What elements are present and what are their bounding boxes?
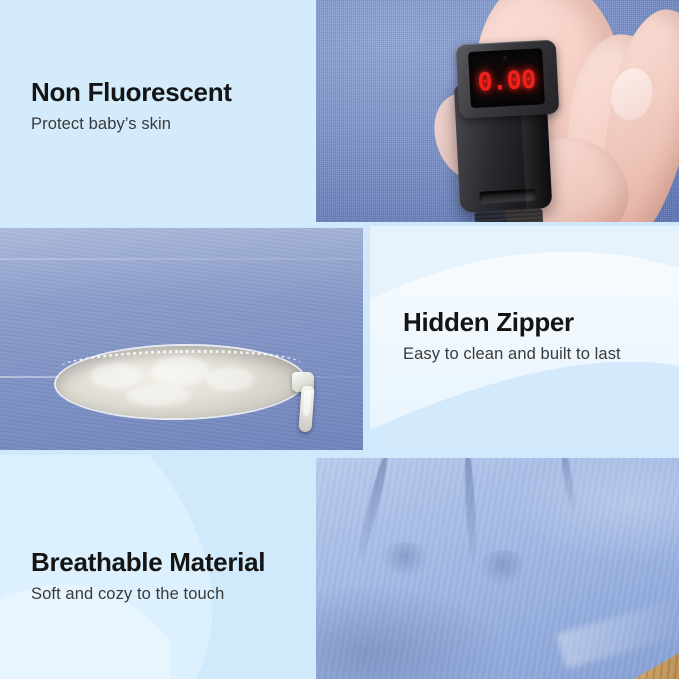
device-sensor-slot (479, 189, 535, 203)
device-brand-logo: ◎ (503, 55, 508, 61)
feature-subline: Easy to clean and built to last (403, 344, 621, 365)
feature-text-non-fluorescent: Non Fluorescent Protect baby’s skin (31, 78, 232, 134)
feature-headline: Hidden Zipper (403, 308, 621, 337)
feature-subline: Protect baby’s skin (31, 114, 232, 135)
device-readout-value: 0.00 (477, 67, 536, 95)
device-head: ◎ 0.00 (456, 40, 560, 119)
feature-text-breathable-material: Breathable Material Soft and cozy to the… (31, 548, 265, 604)
feature-headline: Non Fluorescent (31, 78, 232, 107)
feature-headline: Breathable Material (31, 548, 265, 577)
feature-image-breathable-material (316, 458, 679, 679)
feature-image-non-fluorescent: ◎ 0.00 (316, 0, 679, 222)
infographic-canvas: Non Fluorescent Protect baby’s skin (0, 0, 679, 679)
fill-lump (126, 384, 190, 407)
pillow-top-seam (0, 258, 363, 260)
fluorescence-detector-device: ◎ 0.00 (452, 39, 571, 213)
device-grip-texture (474, 208, 543, 222)
feature-text-hidden-zipper: Hidden Zipper Easy to clean and built to… (403, 308, 621, 364)
device-display: ◎ 0.00 (468, 48, 545, 108)
feature-subline: Soft and cozy to the touch (31, 584, 265, 605)
feature-image-hidden-zipper (0, 228, 363, 450)
